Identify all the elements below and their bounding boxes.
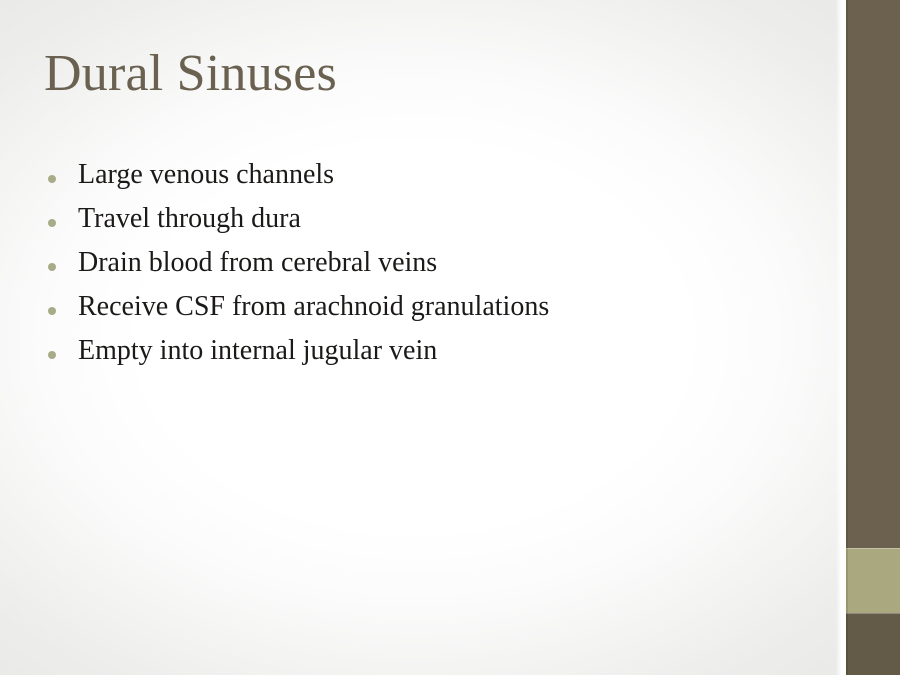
list-item: Drain blood from cerebral veins [48,246,808,290]
title-block: Dural Sinuses [44,44,744,104]
bullet-dot-icon [48,349,78,359]
page-title: Dural Sinuses [44,44,744,104]
list-item-label: Drain blood from cerebral veins [78,246,437,280]
bullet-list: Large venous channels Travel through dur… [48,158,808,378]
sidebar-band-accent [846,548,900,613]
bullet-dot-icon [48,305,78,315]
list-item: Receive CSF from arachnoid granulations [48,290,808,334]
bullet-dot-icon [48,261,78,271]
sidebar-band-dark-bottom [846,613,900,675]
bullet-dot-icon [48,217,78,227]
list-item-label: Empty into internal jugular vein [78,334,437,368]
presentation-slide: Dural Sinuses Large venous channels Trav… [0,0,900,675]
list-item-label: Large venous channels [78,158,334,192]
bullet-dot-icon [48,173,78,183]
sidebar-gutter [836,0,846,675]
list-item: Travel through dura [48,202,808,246]
list-item: Large venous channels [48,158,808,202]
list-item-label: Receive CSF from arachnoid granulations [78,290,549,324]
decorative-sidebar [846,0,900,675]
list-item-label: Travel through dura [78,202,301,236]
list-item: Empty into internal jugular vein [48,334,808,378]
sidebar-band-dark-top [846,0,900,548]
sidebar-edge-shadow [846,0,848,675]
